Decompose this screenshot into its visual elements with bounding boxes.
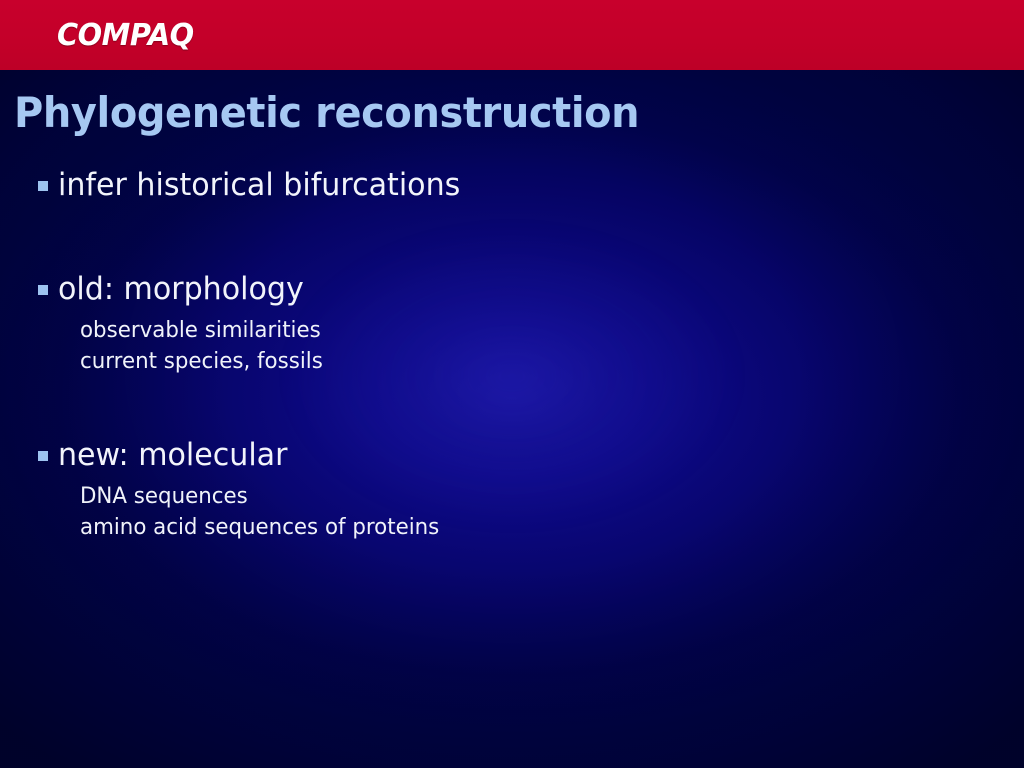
sub-item: amino acid sequences of proteins [80, 512, 996, 543]
header-band: COMPAQ [0, 0, 1024, 70]
slide-body: infer historical bifurcations old: morph… [0, 160, 1024, 543]
square-bullet-icon [38, 285, 48, 295]
bullet-group-3: new: molecular DNA sequences amino acid … [0, 435, 1024, 543]
sub-item: current species, fossils [80, 346, 996, 377]
bullet-group-2: old: morphology observable similarities … [0, 269, 1024, 377]
square-bullet-icon [38, 451, 48, 461]
bullet-group-1: infer historical bifurcations [0, 165, 1024, 207]
bullet-label: old: morphology [58, 269, 304, 309]
bullet-label: new: molecular [58, 435, 287, 475]
presentation-slide: COMPAQ Phylogenetic reconstruction infer… [0, 0, 1024, 768]
bullet-item: old: morphology [0, 269, 1024, 311]
sub-item: observable similarities [80, 315, 996, 346]
sub-item: DNA sequences [80, 481, 996, 512]
slide-title: Phylogenetic reconstruction [14, 88, 639, 137]
bullet-item: infer historical bifurcations [0, 165, 1024, 207]
bullet-item: new: molecular [0, 435, 1024, 477]
compaq-logo: COMPAQ [57, 21, 194, 51]
square-bullet-icon [38, 181, 48, 191]
bullet-label: infer historical bifurcations [58, 165, 460, 205]
